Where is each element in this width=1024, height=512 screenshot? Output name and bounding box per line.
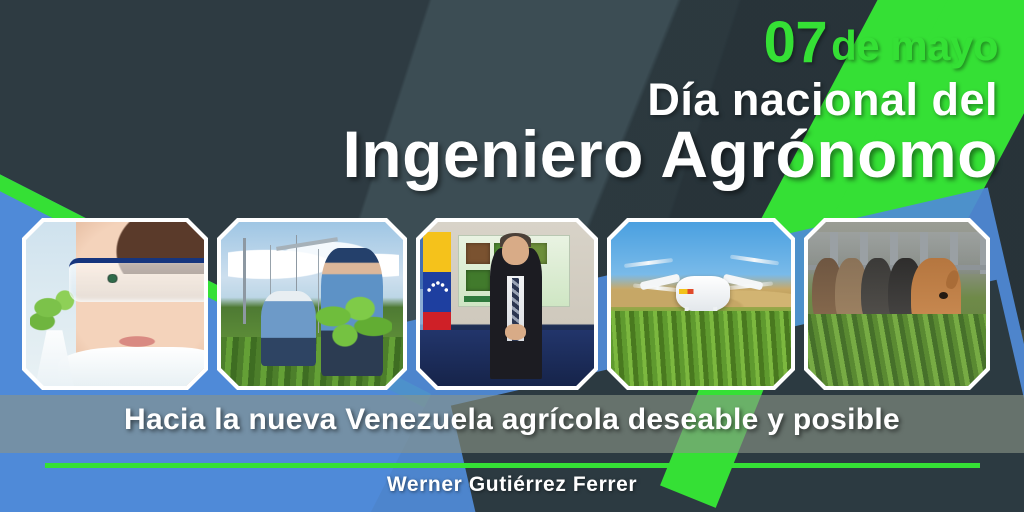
safety-goggles — [69, 258, 204, 302]
cattle-feeding-photo — [804, 218, 990, 390]
date-month: de mayo — [831, 22, 998, 69]
drone-scene — [611, 222, 791, 386]
lab-scene — [26, 222, 204, 386]
drone-stripe — [679, 289, 727, 294]
drone-body — [676, 276, 730, 312]
green-divider-line — [45, 463, 980, 468]
grass-foreground — [611, 311, 791, 386]
tagline-text: Hacia la nueva Venezuela agrícola deseab… — [0, 403, 1024, 437]
flag-stars — [427, 280, 448, 299]
headline-title: Ingeniero Agrónomo — [0, 121, 998, 188]
cut-grass-feed — [808, 314, 986, 386]
cow-ear — [944, 269, 960, 290]
soy-plant-leaves — [308, 294, 392, 350]
slide-thumb — [466, 270, 490, 291]
presentation-scene — [420, 222, 594, 386]
lab-scientist-goggles-photo — [22, 218, 208, 390]
speaker-presentation-photo — [416, 218, 598, 390]
date-number: 07 — [764, 10, 828, 75]
poster-canvas: 07de mayo Día nacional del Ingeniero Agr… — [0, 0, 1024, 512]
headline-block: 07de mayo Día nacional del Ingeniero Agr… — [0, 14, 998, 189]
lab-coat — [58, 347, 204, 386]
field-agronomists-crop-photo — [217, 218, 407, 390]
cattle-scene — [808, 222, 986, 386]
speaker-head — [502, 236, 529, 265]
speaker-hands — [505, 324, 526, 340]
author-name: Werner Gutiérrez Ferrer — [0, 473, 1024, 497]
slide-thumb — [466, 243, 490, 264]
drone-propeller — [624, 258, 673, 268]
date-line: 07de mayo — [0, 14, 998, 72]
photo-strip — [22, 218, 1010, 390]
headline-subtitle: Día nacional del — [0, 76, 998, 123]
cow-eye — [939, 292, 948, 299]
field-scene — [221, 222, 403, 386]
agricultural-drone-photo — [607, 218, 795, 390]
speaker-figure — [490, 248, 542, 379]
irrigation-rig — [243, 238, 246, 323]
drone-propeller — [730, 255, 779, 266]
